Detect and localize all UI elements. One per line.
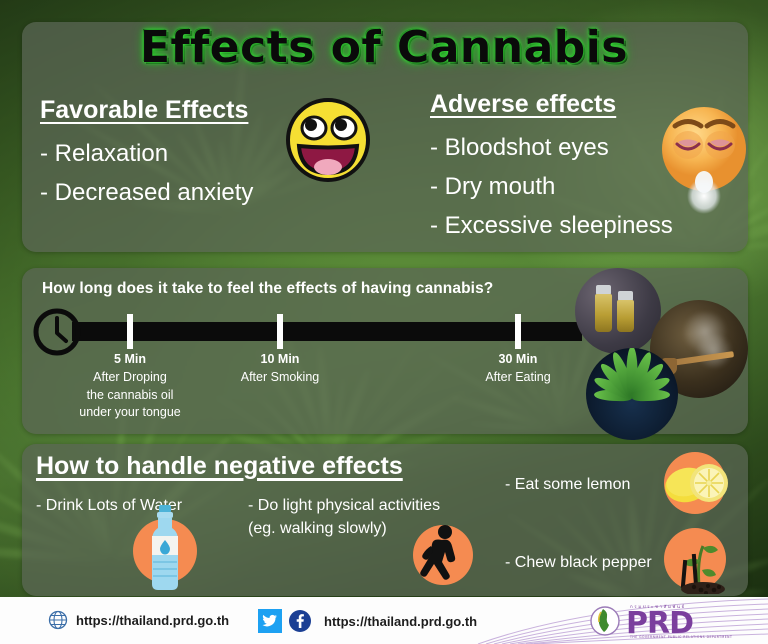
timeline-tick-5min — [127, 314, 133, 349]
timeline-tick-10min — [277, 314, 283, 349]
pepper-plant-icon — [663, 524, 729, 594]
timeline-label-10min: 10 Min After Smoking — [210, 351, 350, 387]
water-bottle-icon — [147, 505, 183, 591]
smoking-woozy-face-emoji — [658, 104, 750, 216]
tip-physical-activity-line1: - Do light physical activities — [248, 494, 508, 517]
globe-icon — [48, 610, 68, 630]
clock-icon — [33, 308, 81, 356]
timeline-label-5min: 5 Min After Droping the cannabis oil und… — [50, 351, 210, 422]
facebook-icon[interactable] — [288, 609, 312, 633]
footer-website[interactable]: https://thailand.prd.go.th — [48, 610, 229, 630]
tip-eat-lemon: - Eat some lemon — [505, 473, 630, 496]
svg-text:THE GOVERNMENT PUBLIC RELATION: THE GOVERNMENT PUBLIC RELATIONS DEPARTME… — [629, 635, 732, 639]
timeline-question: How long does it take to feel the effect… — [42, 280, 493, 298]
footer-website-url: https://thailand.prd.go.th — [76, 613, 229, 628]
footer-social-url: https://thailand.prd.go.th — [324, 614, 477, 629]
tip-physical-activity: - Do light physical activities (eg. walk… — [248, 494, 508, 540]
footer-bar: https://thailand.prd.go.th https://thail… — [0, 597, 768, 644]
tip-chew-pepper: - Chew black pepper — [505, 551, 652, 574]
timeline-bar — [72, 322, 582, 341]
tip-physical-activity-line2: (eg. walking slowly) — [248, 517, 508, 540]
footer-social[interactable]: https://thailand.prd.go.th — [258, 609, 477, 633]
cannabis-leaf-photo — [586, 348, 678, 440]
lemon-icon — [663, 452, 729, 514]
cannabis-oil-bottles-photo — [575, 268, 661, 354]
page-title: Effects of Cannabis — [0, 22, 768, 73]
handle-heading: How to handle negative effects — [36, 452, 403, 481]
timeline-label-30min: 30 Min After Eating — [448, 351, 588, 387]
walking-person-icon — [418, 524, 468, 586]
awesome-face-emoji — [283, 97, 373, 183]
twitter-icon[interactable] — [258, 609, 282, 633]
timeline-tick-30min — [515, 314, 521, 349]
prd-logo: กรมประชาสัมพันธ์ PRD THE GOVERNMENT PUBL… — [588, 602, 736, 640]
